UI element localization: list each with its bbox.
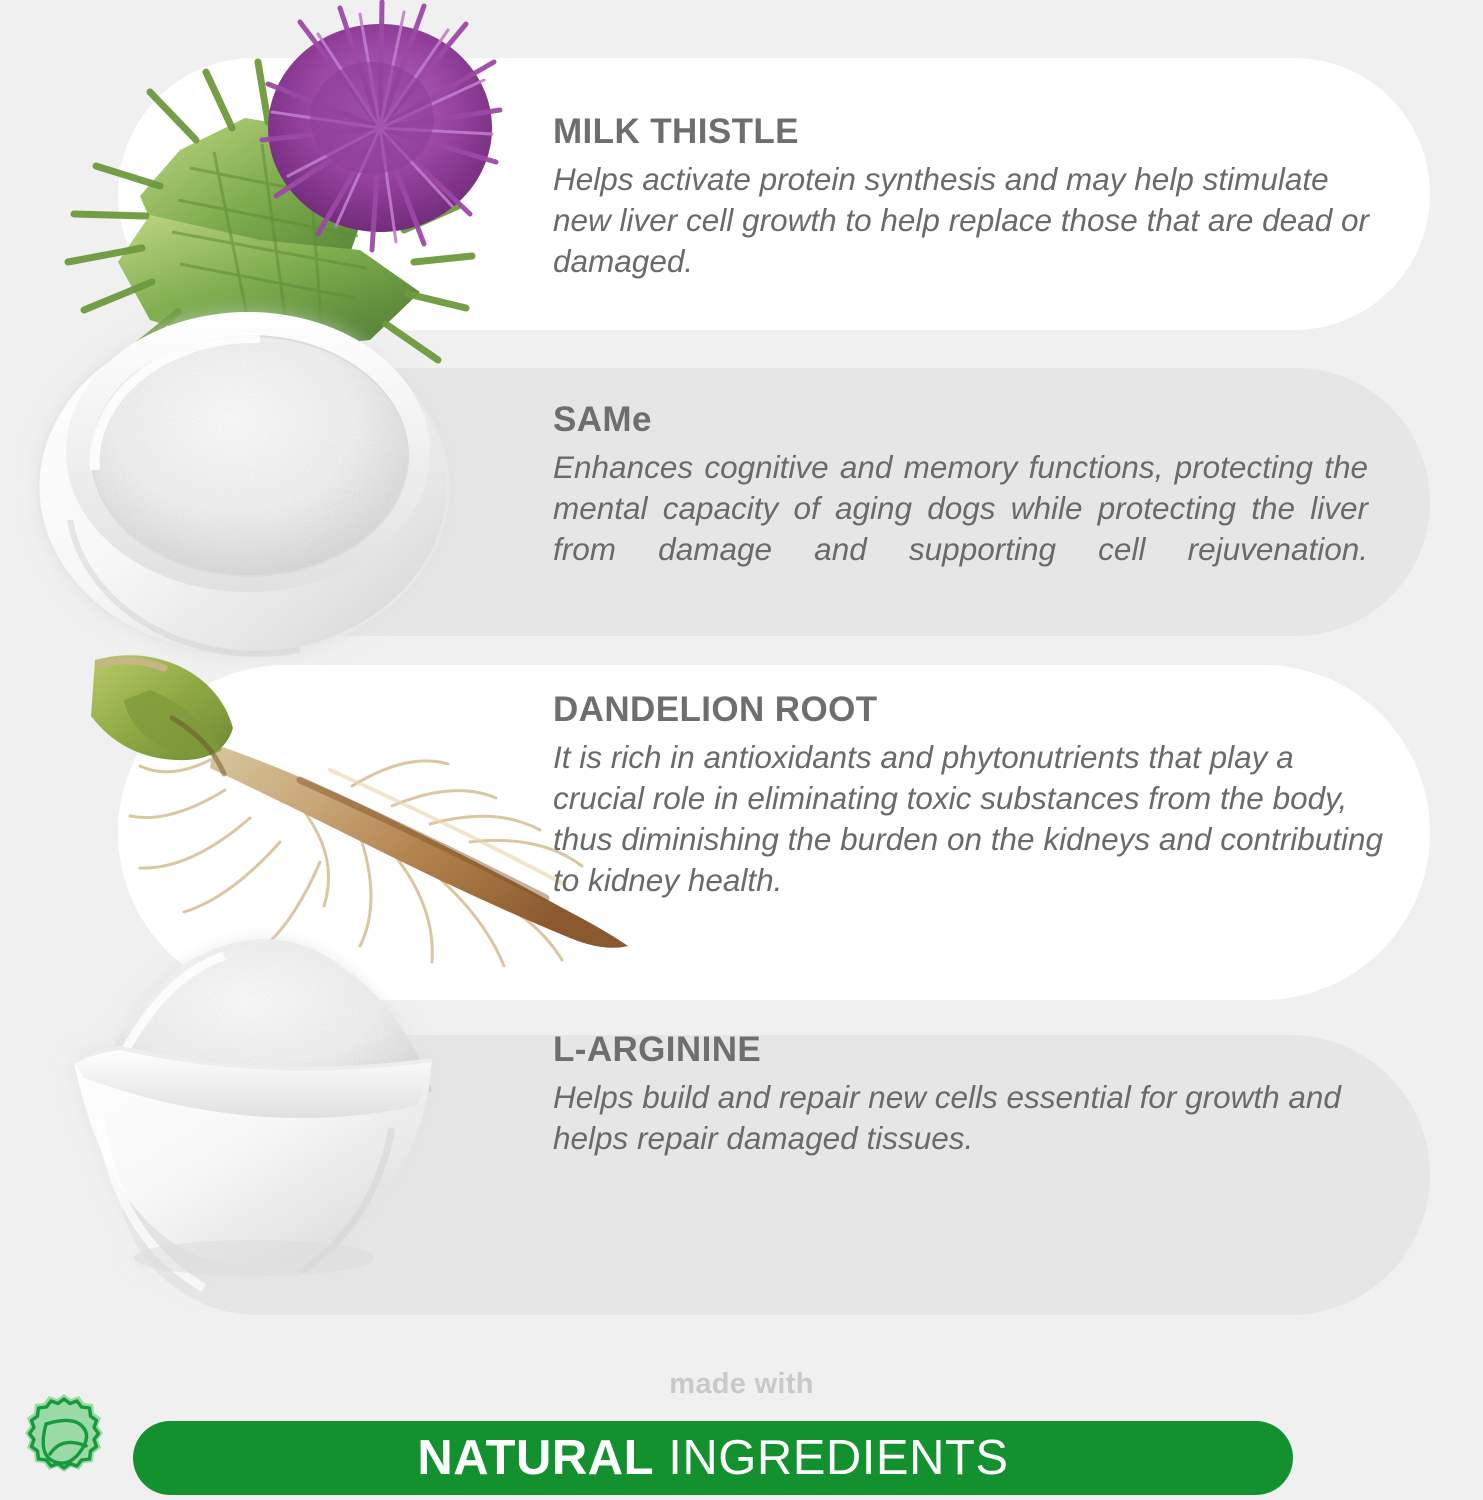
card-title: DANDELION ROOT [553, 690, 1388, 730]
card-description: It is rich in antioxidants and phytonutr… [553, 737, 1388, 901]
infographic-root: MILK THISTLE Helps activate protein synt… [0, 0, 1483, 1500]
leaf-seal-icon [12, 1390, 116, 1494]
natural-ingredients-banner: NATURAL INGREDIENTS [133, 1421, 1293, 1495]
card-title: MILK THISTLE [553, 112, 1388, 152]
card-text-milk-thistle: MILK THISTLE Helps activate protein synt… [553, 112, 1388, 282]
card-title: L-ARGININE [553, 1030, 1388, 1070]
banner-text-light: INGREDIENTS [668, 1431, 1008, 1485]
banner-text: NATURAL INGREDIENTS [417, 1430, 1008, 1486]
card-title: SAMe [553, 400, 1368, 440]
banner-text-bold: NATURAL [417, 1431, 654, 1485]
card-text-same: SAMe Enhances cognitive and memory funct… [553, 400, 1368, 611]
card-description: Helps activate protein synthesis and may… [553, 159, 1388, 282]
made-with-label: made with [0, 1368, 1483, 1401]
card-description: Helps build and repair new cells essenti… [553, 1077, 1388, 1159]
card-description: Enhances cognitive and memory functions,… [553, 447, 1368, 611]
card-text-l-arginine: L-ARGININE Helps build and repair new ce… [553, 1030, 1388, 1159]
card-text-dandelion-root: DANDELION ROOT It is rich in antioxidant… [553, 690, 1388, 901]
